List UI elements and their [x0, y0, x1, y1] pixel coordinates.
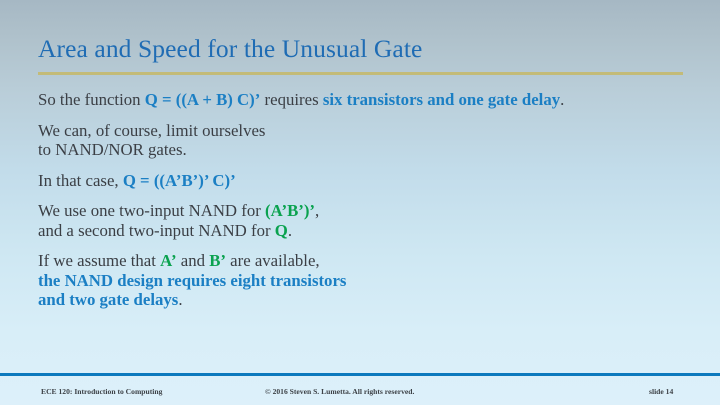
p1-run-1: So the function — [38, 90, 145, 109]
p5-emphasis-line-3: and two gate delays — [38, 290, 178, 309]
slide-body: So the function Q = ((A + B) C)’ require… — [38, 90, 698, 310]
footer-course-label: ECE 120: Introduction to Computing — [41, 387, 162, 396]
p5-signal-a-not: A’ — [160, 251, 176, 270]
p4-formula-ab-nand: (A’B’)’ — [265, 201, 315, 220]
p1-emphasis-transistors-delay: transistors and one gate delay — [347, 90, 561, 109]
p4-line1-comma: , — [315, 201, 319, 220]
p2-line-1: We can, of course, limit ourselves — [38, 121, 265, 140]
p5-line3-period: . — [178, 290, 182, 309]
p1-run-3: requires — [260, 90, 322, 109]
footer-copyright-label: © 2016 Steven S. Lumetta. All rights res… — [265, 387, 414, 396]
body-paragraph-3: In that case, Q = ((A’B’)’ C)’ — [38, 171, 698, 191]
slide-canvas: Area and Speed for the Unusual Gate So t… — [0, 0, 720, 405]
p5-line1-text-3: are available, — [226, 251, 320, 270]
p5-line1-text-1: If we assume that — [38, 251, 160, 270]
body-paragraph-5: If we assume that A’ and B’ are availabl… — [38, 251, 698, 310]
footer-divider-rule — [0, 373, 720, 376]
page-title: Area and Speed for the Unusual Gate — [38, 34, 688, 64]
p5-line1-text-2: and — [177, 251, 210, 270]
p5-signal-b-not: B’ — [209, 251, 226, 270]
title-underline-rule — [38, 72, 683, 75]
p2-line-2: to NAND/NOR gates. — [38, 140, 187, 159]
body-paragraph-4: We use one two-input NAND for (A’B’)’, a… — [38, 201, 698, 240]
p1-emphasis-six: six — [323, 90, 343, 109]
p1-formula-q-or: Q = ((A + B) C)’ — [145, 90, 261, 109]
body-paragraph-1: So the function Q = ((A + B) C)’ require… — [38, 90, 698, 110]
p4-formula-q: Q — [275, 221, 288, 240]
p3-run-1: In that case, — [38, 171, 123, 190]
p4-line2-text: and a second two-input NAND for — [38, 221, 275, 240]
p5-emphasis-line-2: the NAND design requires eight transisto… — [38, 271, 346, 290]
p1-run-7: . — [560, 90, 564, 109]
p3-formula-q-nand: Q = ((A’B’)’ C)’ — [123, 171, 236, 190]
footer-slide-number: slide 14 — [649, 387, 673, 396]
body-paragraph-2: We can, of course, limit ourselves to NA… — [38, 121, 698, 160]
p4-line1-text: We use one two-input NAND for — [38, 201, 265, 220]
p4-line2-period: . — [288, 221, 292, 240]
slide-footer: ECE 120: Introduction to Computing © 201… — [0, 383, 720, 403]
